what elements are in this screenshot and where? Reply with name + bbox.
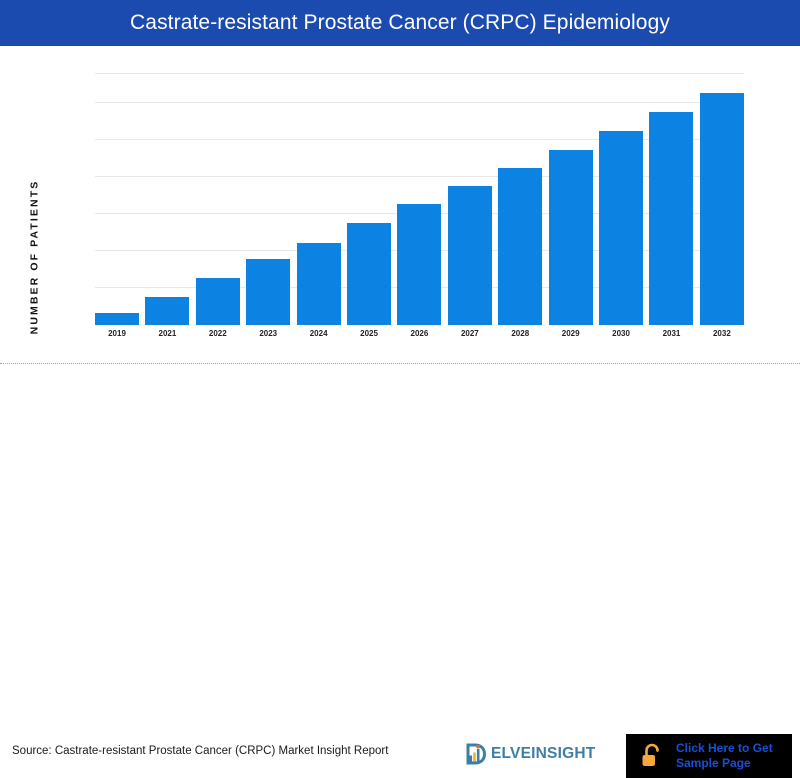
delveinsight-logo-text: ELVEINSIGHT [491,745,595,763]
y-axis-title: NUMBER OF PATIENTS [22,142,46,372]
get-sample-page-label: Click Here to Get Sample Page [676,741,773,771]
open-padlock-icon [637,741,667,771]
bar-2022 [196,278,240,325]
bar-series [95,74,744,325]
bar-2019 [95,313,139,325]
page-title: Castrate-resistant Prostate Cancer (CRPC… [130,11,670,35]
cta-line-2: Sample Page [676,756,773,771]
y-axis-title-label: NUMBER OF PATIENTS [28,180,40,335]
bar-slot [196,74,240,325]
x-axis-label-2026: 2026 [397,329,441,338]
bar-2029 [549,150,593,325]
bar-2021 [145,297,189,325]
chart-page: Castrate-resistant Prostate Cancer (CRPC… [0,0,800,420]
x-axis-label-2019: 2019 [95,329,139,338]
bar-slot [347,74,391,325]
x-axis-labels: 2019202120222023202420252026202720282029… [95,329,744,338]
plot-area [95,74,744,325]
chart-footer: Source: Castrate-resistant Prostate Canc… [0,364,800,420]
x-axis-label-2021: 2021 [145,329,189,338]
bar-slot [145,74,189,325]
bar-slot [95,74,139,325]
x-axis-label-2022: 2022 [196,329,240,338]
x-axis-label-2032: 2032 [700,329,744,338]
chart-body: NUMBER OF PATIENTS 201920212022202320242… [0,46,800,363]
cta-line-1: Click Here to Get [676,741,773,756]
bar-2032 [700,93,744,325]
bar-2025 [347,223,391,325]
delveinsight-logo: ELVEINSIGHT [466,741,595,767]
bar-2028 [498,168,542,325]
bar-2023 [246,259,290,325]
x-axis-label-2025: 2025 [347,329,391,338]
bar-slot [448,74,492,325]
source-text: Source: Castrate-resistant Prostate Canc… [12,745,388,757]
delveinsight-logo-mark [466,742,490,766]
x-axis-label-2027: 2027 [448,329,492,338]
bar-slot [498,74,542,325]
bar-2030 [599,131,643,325]
bar-2024 [297,243,341,325]
bar-slot [649,74,693,325]
x-axis-label-2030: 2030 [599,329,643,338]
x-axis-label-2031: 2031 [649,329,693,338]
bar-2027 [448,186,492,325]
bar-slot [297,74,341,325]
x-axis-label-2023: 2023 [246,329,290,338]
chart-header: Castrate-resistant Prostate Cancer (CRPC… [0,0,800,46]
bar-2031 [649,112,693,325]
bar-slot [549,74,593,325]
bar-2026 [397,204,441,325]
bar-slot [700,74,744,325]
bar-slot [599,74,643,325]
bar-slot [246,74,290,325]
x-axis-label-2028: 2028 [498,329,542,338]
x-axis-label-2024: 2024 [297,329,341,338]
bar-slot [397,74,441,325]
x-axis-label-2029: 2029 [549,329,593,338]
get-sample-page-button[interactable]: Click Here to Get Sample Page [626,734,792,778]
